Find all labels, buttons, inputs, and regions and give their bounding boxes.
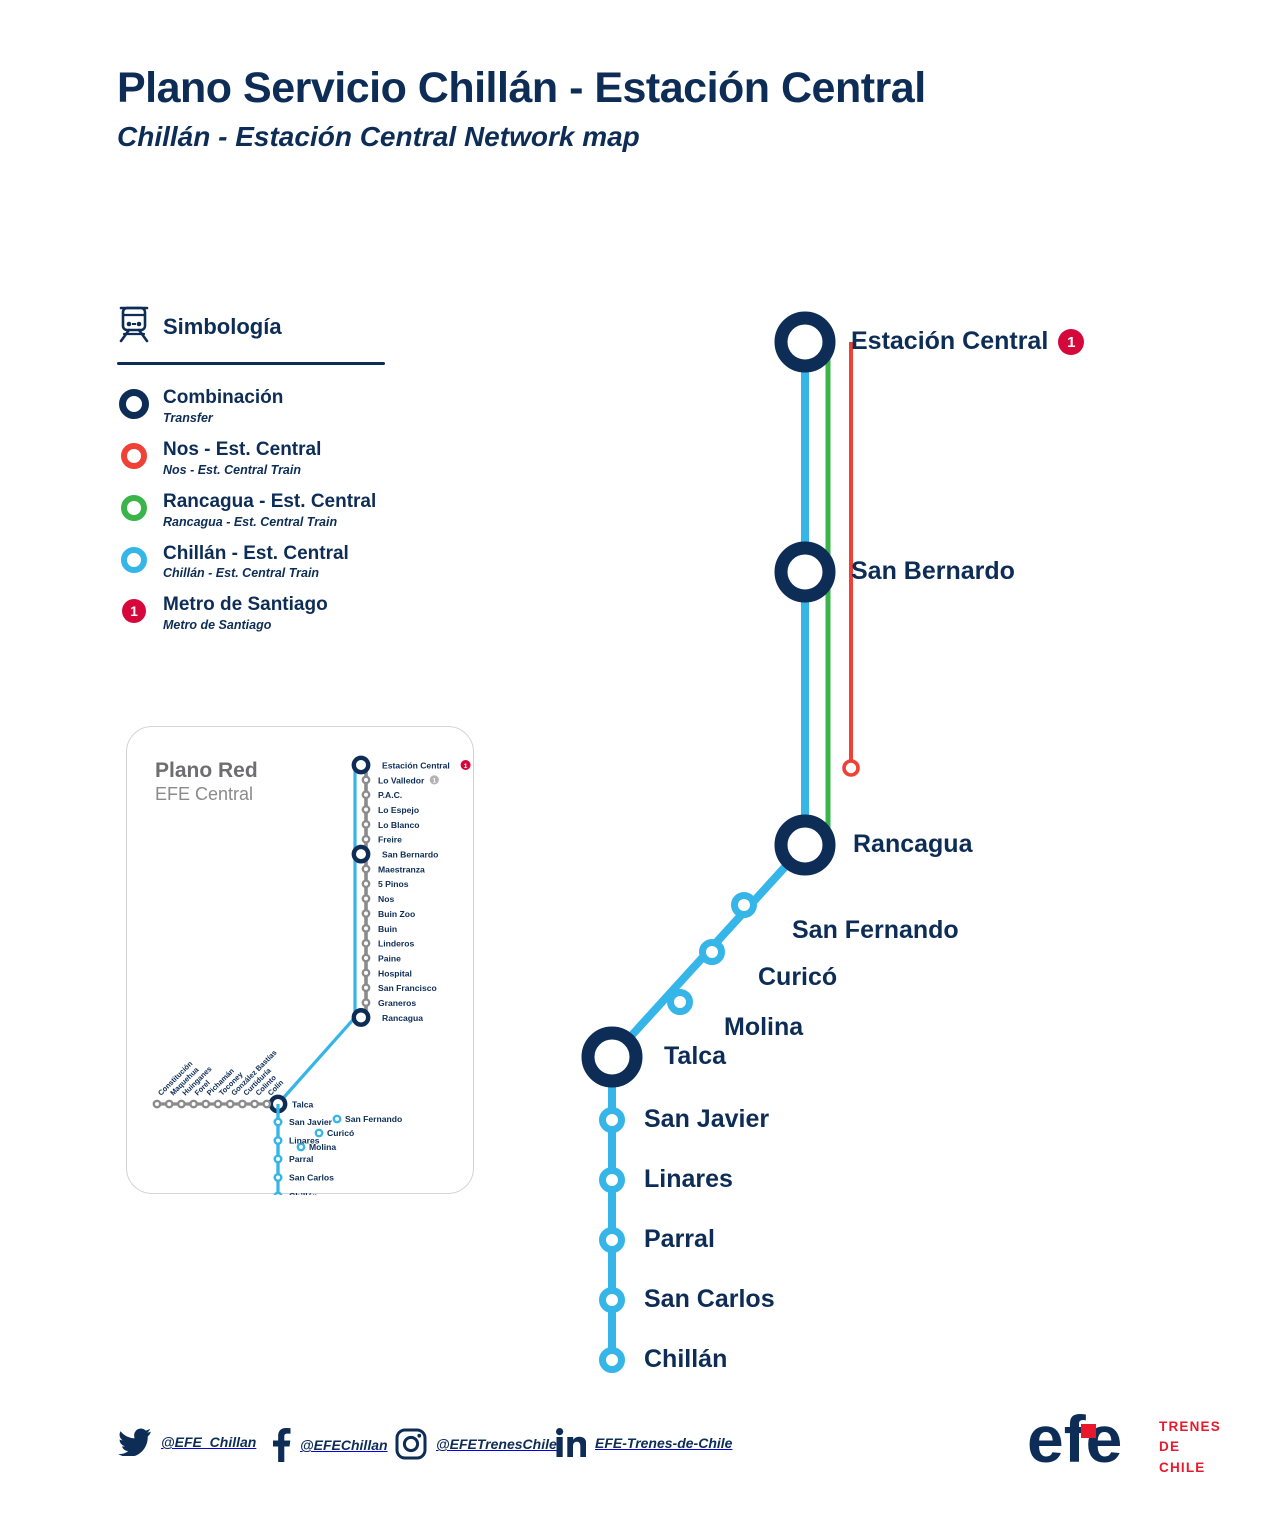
inset-station-label: San Fernando xyxy=(345,1114,402,1124)
station-label-san-carlos: San Carlos xyxy=(644,1287,775,1312)
station-name: Molina xyxy=(724,1013,803,1041)
svg-text:1: 1 xyxy=(464,763,468,770)
inset-station-label: Linares xyxy=(289,1136,320,1146)
social-link-twitter[interactable]: @EFE_Chillan xyxy=(118,1428,256,1456)
page-subtitle: Chillán - Estación Central Network map xyxy=(117,120,1067,154)
inset-station-label: P.A.C. xyxy=(378,790,402,800)
inset-station-label: Freire xyxy=(378,835,402,845)
inset-station-label: Lo Espejo xyxy=(378,805,419,815)
inset-station-label: San Francisco xyxy=(378,983,437,993)
inset-station-label: Buin xyxy=(378,924,397,934)
station-name: Curicó xyxy=(758,963,837,991)
legend-item-rancagua-est-central: Rancagua - Est. Central Rancagua - Est. … xyxy=(117,490,517,531)
legend-item-label-es: Metro de Santiago xyxy=(163,594,328,615)
legend-title: Simbología xyxy=(163,314,282,340)
social-link-facebook[interactable]: @EFEChillan xyxy=(271,1428,388,1462)
station-label-estaci-n-central: Estación Central1 xyxy=(851,329,1084,355)
navy-ring-icon xyxy=(117,387,151,421)
legend-item-label-en: Chillán - Est. Central Train xyxy=(163,566,319,580)
station-name: San Fernando xyxy=(792,916,959,944)
inset-station-label: Linderos xyxy=(378,939,415,949)
page-title: Plano Servicio Chillán - Estación Centra… xyxy=(117,64,1067,112)
metro-line-1-badge-icon: 1 xyxy=(117,594,151,628)
inset-station-label: Paine xyxy=(378,953,401,963)
station-label-rancagua: Rancagua xyxy=(853,832,972,857)
station-label-curic: Curicó xyxy=(758,965,837,990)
inset-station-label: 5 Pinos xyxy=(378,879,409,889)
inset-station-label: Rancagua xyxy=(382,1013,423,1023)
inset-station-label: Talca xyxy=(292,1099,314,1109)
inset-network-map-panel: Plano Red EFE Central Estación Central1L… xyxy=(126,726,474,1194)
legend-header: Simbología xyxy=(117,305,517,348)
inset-station-label: Curicó xyxy=(327,1128,354,1138)
main-network-map: Estación Central1San BernardoRancaguaSan… xyxy=(560,280,1260,1410)
inset-station-label: Hospital xyxy=(378,968,412,978)
linkedin-icon xyxy=(556,1428,586,1458)
svg-text:1: 1 xyxy=(433,777,437,784)
station-label-chill-n: Chillán xyxy=(644,1347,727,1372)
station-name: Parral xyxy=(644,1225,715,1253)
legend-items: Combinación Transfer Nos - Est. Central … xyxy=(117,386,517,634)
legend-divider xyxy=(117,362,385,365)
cyan-ring-icon xyxy=(117,543,151,577)
inset-station-label: Graneros xyxy=(378,998,416,1008)
efe-wordmark-icon: efe xyxy=(1029,1404,1157,1476)
inset-station-label: San Javier xyxy=(289,1117,333,1127)
social-handle: EFE-Trenes-de-Chile xyxy=(595,1435,732,1451)
station-name: San Carlos xyxy=(644,1285,775,1313)
efe-tagline-line1: TRENES xyxy=(1159,1417,1221,1437)
station-label-san-fernando: San Fernando xyxy=(792,918,959,943)
station-label-molina: Molina xyxy=(724,1015,803,1040)
station-label-san-javier: San Javier xyxy=(644,1107,769,1132)
inset-station-label: Nos xyxy=(378,894,394,904)
page-header: Plano Servicio Chillán - Estación Centra… xyxy=(117,64,1067,154)
metro-badge-number: 1 xyxy=(122,599,146,623)
svg-text:efe: efe xyxy=(1029,1404,1122,1476)
inset-station-label: Buin Zoo xyxy=(378,909,415,919)
station-name: San Javier xyxy=(644,1105,769,1133)
social-link-linkedin[interactable]: EFE-Trenes-de-Chile xyxy=(556,1428,732,1458)
green-ring-icon xyxy=(117,491,151,525)
legend-item-nos-est-central: Nos - Est. Central Nos - Est. Central Tr… xyxy=(117,438,517,479)
station-name: Estación Central xyxy=(851,327,1048,355)
station-label-parral: Parral xyxy=(644,1227,715,1252)
legend-item-label-es: Nos - Est. Central xyxy=(163,439,321,460)
legend-item-label-en: Transfer xyxy=(163,411,213,425)
facebook-icon xyxy=(271,1428,291,1462)
inset-map-graphic: Estación Central1Lo Valledor1P.A.C.Lo Es… xyxy=(127,727,475,1195)
efe-tagline-line3: CHILE xyxy=(1159,1458,1221,1478)
legend-item-label-en: Nos - Est. Central Train xyxy=(163,463,301,477)
inset-station-label: Parral xyxy=(289,1154,313,1164)
legend-item-chillan-est-central: Chillán - Est. Central Chillán - Est. Ce… xyxy=(117,542,517,583)
social-handle: @EFEChillan xyxy=(300,1437,388,1453)
train-front-icon xyxy=(117,305,151,348)
inset-station-label: San Carlos xyxy=(289,1173,334,1183)
instagram-icon xyxy=(395,1428,427,1460)
social-handle: @EFE_Chillan xyxy=(161,1434,256,1450)
metro-badge-number: 1 xyxy=(1058,329,1084,355)
legend-item-metro-de-santiago: 1 Metro de Santiago Metro de Santiago xyxy=(117,593,517,634)
inset-station-label: Lo Valledor xyxy=(378,775,425,785)
legend-panel: Simbología Combinación Transfer Nos - Es… xyxy=(117,305,517,634)
legend-item-label-es: Rancagua - Est. Central xyxy=(163,491,376,512)
station-name: Rancagua xyxy=(853,830,972,858)
social-handle: @EFETrenesChile xyxy=(436,1436,557,1452)
red-ring-icon xyxy=(117,439,151,473)
efe-logo: efe TRENES DE CHILE xyxy=(1029,1404,1229,1484)
efe-tagline: TRENES DE CHILE xyxy=(1159,1417,1221,1478)
legend-item-label-es: Combinación xyxy=(163,387,283,408)
station-label-talca: Talca xyxy=(664,1044,726,1069)
station-name: Talca xyxy=(664,1042,726,1070)
efe-tagline-line2: DE xyxy=(1159,1437,1221,1457)
footer-social-bar: @EFE_Chillan @EFEChillan @EFETrenesChile… xyxy=(118,1428,1168,1488)
inset-station-label: Estación Central xyxy=(382,760,450,770)
metro-line-1-badge-icon: 1 xyxy=(1058,329,1084,355)
legend-item-label-en: Metro de Santiago xyxy=(163,618,271,632)
inset-station-label: Lo Blanco xyxy=(378,820,420,830)
legend-item-label-es: Chillán - Est. Central xyxy=(163,543,349,564)
station-name: Linares xyxy=(644,1165,733,1193)
station-label-linares: Linares xyxy=(644,1167,733,1192)
inset-station-label: San Bernardo xyxy=(382,850,438,860)
legend-item-combinacion: Combinación Transfer xyxy=(117,386,517,427)
station-name: San Bernardo xyxy=(851,557,1015,585)
station-label-san-bernardo: San Bernardo xyxy=(851,559,1015,584)
social-link-instagram[interactable]: @EFETrenesChile xyxy=(395,1428,557,1460)
station-name: Chillán xyxy=(644,1345,727,1373)
legend-item-label-en: Rancagua - Est. Central Train xyxy=(163,515,337,529)
inset-station-label: Chillán xyxy=(289,1191,318,1195)
inset-station-label: Maestranza xyxy=(378,864,425,874)
twitter-icon xyxy=(118,1428,152,1456)
